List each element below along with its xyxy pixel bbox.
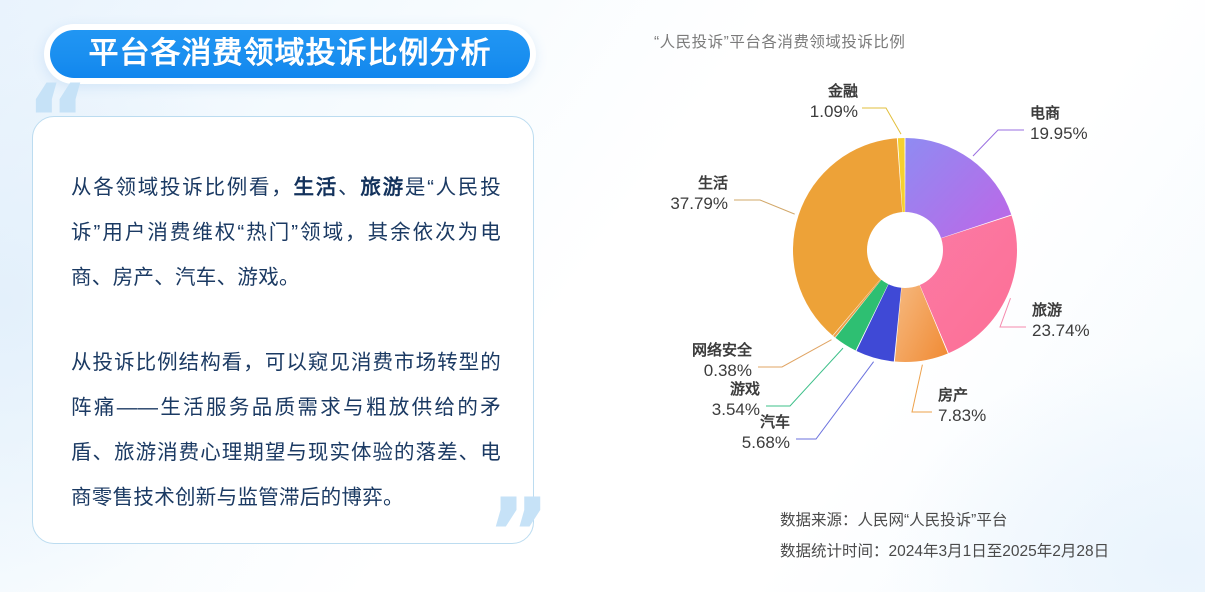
left-commentary-panel: 平台各消费领域投诉比例分析 “ 从各领域投诉比例看，生活、旅游是“人民投诉”用户… bbox=[0, 0, 600, 592]
pie-label-name-旅游: 旅游 bbox=[1032, 301, 1062, 319]
pie-label-value-游戏: 3.54% bbox=[712, 400, 760, 419]
footer-source: 数据来源：人民网“人民投诉”平台 bbox=[780, 505, 1200, 536]
commentary-card: 从各领域投诉比例看，生活、旅游是“人民投诉”用户消费维权“热门”领域，其余依次为… bbox=[32, 116, 534, 544]
infographic-page: 平台各消费领域投诉比例分析 “ 从各领域投诉比例看，生活、旅游是“人民投诉”用户… bbox=[0, 0, 1205, 592]
para1-keyword-life: 生活 bbox=[294, 176, 339, 199]
para1-keyword-travel: 旅游 bbox=[360, 176, 405, 199]
pie-label-value-金融: 1.09% bbox=[810, 102, 858, 121]
pie-label-name-汽车: 汽车 bbox=[760, 413, 790, 431]
pie-chart: 电商19.95%旅游23.74%房产7.83%汽车5.68%游戏3.54%网络安… bbox=[600, 0, 1205, 500]
pie-label-value-汽车: 5.68% bbox=[742, 433, 790, 452]
pie-label-name-生活: 生活 bbox=[698, 174, 728, 192]
commentary-paragraph-2: 从投诉比例结构看，可以窥见消费市场转型的阵痛——生活服务品质需求与粗放供给的矛盾… bbox=[71, 340, 501, 520]
leader-line-生活 bbox=[734, 200, 795, 214]
footer-period: 数据统计时间：2024年3月1日至2025年2月28日 bbox=[780, 536, 1200, 567]
pie-label-value-网络安全: 0.38% bbox=[704, 361, 752, 380]
commentary-card-body: 从各领域投诉比例看，生活、旅游是“人民投诉”用户消费维权“热门”领域，其余依次为… bbox=[71, 165, 501, 520]
pie-label-name-游戏: 游戏 bbox=[730, 380, 760, 398]
leader-line-网络安全 bbox=[758, 340, 832, 367]
title-badge: 平台各消费领域投诉比例分析 bbox=[44, 24, 536, 84]
para1-segment-2: 、 bbox=[338, 176, 360, 199]
pie-label-name-金融: 金融 bbox=[827, 82, 858, 100]
leader-line-金融 bbox=[862, 108, 901, 134]
donut-hole bbox=[867, 212, 943, 288]
commentary-paragraph-1: 从各领域投诉比例看，生活、旅游是“人民投诉”用户消费维权“热门”领域，其余依次为… bbox=[71, 165, 501, 300]
chart-panel: “人民投诉”平台各消费领域投诉比例 电商19.95%旅游23.74%房产7.83… bbox=[600, 0, 1205, 592]
leader-line-房产 bbox=[912, 365, 932, 412]
pie-label-value-房产: 7.83% bbox=[938, 406, 986, 425]
pie-label-value-生活: 37.79% bbox=[670, 194, 728, 213]
para1-segment-1: 从各领域投诉比例看， bbox=[71, 176, 294, 199]
leader-line-电商 bbox=[973, 130, 1024, 156]
leader-line-游戏 bbox=[766, 348, 843, 406]
quote-close-icon: ” bbox=[487, 486, 550, 582]
page-title: 平台各消费领域投诉比例分析 bbox=[89, 39, 492, 69]
pie-label-value-旅游: 23.74% bbox=[1032, 321, 1090, 340]
pie-label-name-网络安全: 网络安全 bbox=[692, 341, 753, 359]
leader-line-汽车 bbox=[796, 362, 874, 439]
pie-label-name-电商: 电商 bbox=[1030, 104, 1060, 122]
title-badge-pill: 平台各消费领域投诉比例分析 bbox=[50, 30, 530, 78]
pie-label-value-电商: 19.95% bbox=[1030, 124, 1088, 143]
pie-label-name-房产: 房产 bbox=[938, 386, 968, 404]
chart-footer: 数据来源：人民网“人民投诉”平台 数据统计时间：2024年3月1日至2025年2… bbox=[780, 505, 1200, 567]
